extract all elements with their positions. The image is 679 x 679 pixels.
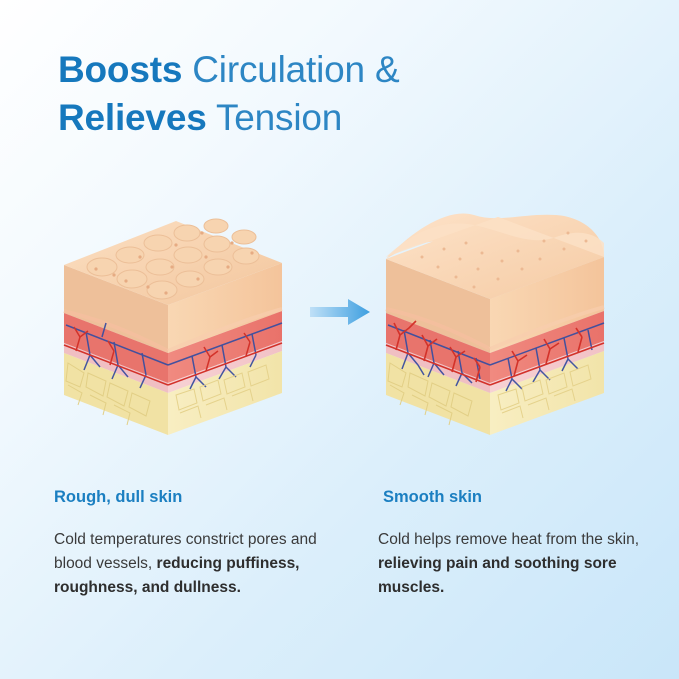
headline-bold-1: Boosts <box>58 49 182 90</box>
caption-left-title: Rough, dull skin <box>54 488 329 507</box>
caption-right-body: Cold helps remove heat from the skin, re… <box>378 528 653 600</box>
right-arrow-icon <box>310 297 372 327</box>
page-title: Boosts Circulation & Relieves Tension <box>58 46 658 142</box>
infographic-page: Boosts Circulation & Relieves Tension <box>0 0 679 679</box>
caption-right-text-plain: Cold helps remove heat from the skin, <box>378 531 639 548</box>
illustration-area <box>0 185 679 475</box>
smooth-skin-illustration <box>378 195 613 455</box>
headline-bold-2: Relieves <box>58 97 207 138</box>
caption-right-text-bold: relieving pain and soothing sore muscles… <box>378 555 617 596</box>
caption-right: Smooth skin Cold helps remove heat from … <box>378 488 653 600</box>
caption-left: Rough, dull skin Cold temperatures const… <box>54 488 329 600</box>
caption-left-body: Cold temperatures constrict pores and bl… <box>54 528 329 600</box>
headline-line-1: Boosts Circulation & <box>58 46 658 94</box>
headline-line-2: Relieves Tension <box>58 94 658 142</box>
headline-rest-1: Circulation & <box>182 49 399 90</box>
rough-skin-illustration <box>56 195 291 455</box>
caption-right-title: Smooth skin <box>378 488 653 507</box>
headline-rest-2: Tension <box>207 97 343 138</box>
